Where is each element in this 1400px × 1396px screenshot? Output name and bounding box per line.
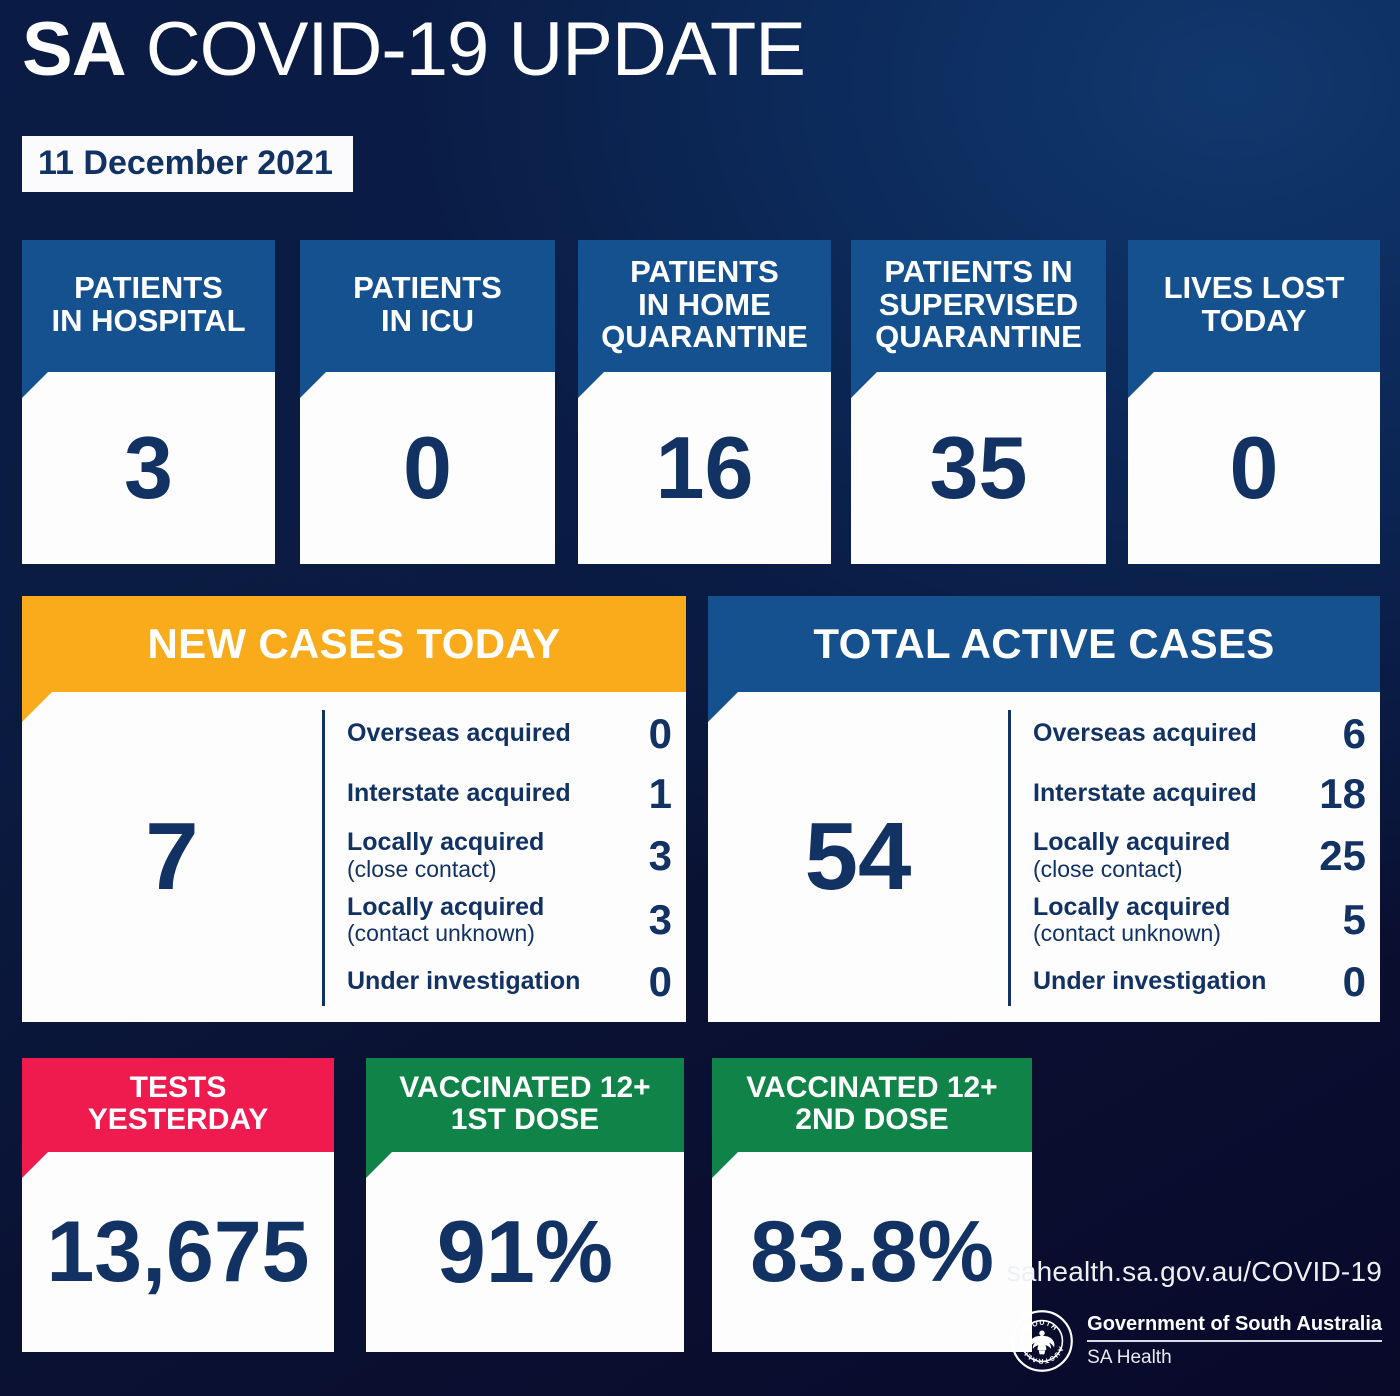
breakdown-label-main: Under investigation [347,968,580,996]
breakdown-row: Interstate acquired 18 [1033,770,1366,818]
breakdown-row: Overseas acquired 0 [347,710,672,758]
breakdown-label: Locally acquired (close contact) [347,829,544,882]
page-title-bold: SA [22,7,126,92]
breakdown-row: Interstate acquired 1 [347,770,672,818]
stat-label-line1: PATIENTS [74,270,223,305]
breakdown-label: Interstate acquired [347,780,571,808]
stat-label-line3: QUARANTINE [875,319,1082,354]
stat-card-header: LIVES LOST TODAY [1128,240,1380,372]
stat-card-header: PATIENTS IN HOME QUARANTINE [578,240,831,372]
stat-card-tests-yesterday: TESTS YESTERDAY 13,675 [22,1058,334,1352]
stat-label-line1: VACCINATED 12+ [399,1071,650,1104]
stat-label-line1: PATIENTS [630,254,779,289]
footer: sahealth.sa.gov.au/COVID-19 SOUTH AUSTRA… [1007,1256,1382,1372]
infographic-root: SA COVID-19 UPDATE 11 December 2021 PATI… [0,0,1400,1396]
breakdown-value: 0 [608,710,672,758]
stat-value: 35 [851,372,1106,564]
stat-card-lives-lost-today: LIVES LOST TODAY 0 [1128,240,1380,564]
breakdown-label: Overseas acquired [1033,720,1257,748]
breakdown-label-main: Overseas acquired [1033,720,1257,748]
breakdown-label: Locally acquired (contact unknown) [347,894,544,947]
panel-total: 7 [22,692,322,1022]
breakdown-row: Under investigation 0 [347,958,672,1006]
stat-label-line2: TODAY [1201,303,1306,338]
piping-shrike-emblem [1030,1330,1055,1354]
brand-text: Government of South Australia SA Health [1087,1313,1382,1369]
breakdown-label-main: Under investigation [1033,968,1266,996]
panel-header: NEW CASES TODAY [22,596,686,692]
breakdown-label-main: Locally acquired [1033,894,1230,922]
panel-body: 54 Overseas acquired 6 Interstate acquir… [708,692,1380,1022]
breakdown-value: 0 [608,958,672,1006]
stat-label-line2: 2ND DOSE [795,1103,948,1136]
panel-title: NEW CASES TODAY [148,620,561,668]
stat-value: 13,675 [22,1152,334,1352]
breakdown-label-sub: (close contact) [347,857,544,882]
agency-label: SA Health [1087,1347,1382,1369]
stat-value: 16 [578,372,831,564]
breakdown-label: Locally acquired (close contact) [1033,829,1230,882]
brand-divider [1087,1340,1382,1342]
breakdown-row: Overseas acquired 6 [1033,710,1366,758]
breakdown-value: 18 [1302,770,1366,818]
stat-card-header: TESTS YESTERDAY [22,1058,334,1152]
stat-label-line1: PATIENTS [353,270,502,305]
breakdown-label-main: Interstate acquired [347,780,571,808]
breakdown-label-sub: (close contact) [1033,857,1230,882]
breakdown-label-main: Interstate acquired [1033,780,1257,808]
stat-card-patients-in-home-quarantine: PATIENTS IN HOME QUARANTINE 16 [578,240,831,564]
stat-label-line2: IN HOME [638,287,771,322]
brand-lockup: SOUTH AUSTRALIA Government of South Aust… [1007,1310,1382,1372]
breakdown-value: 1 [608,770,672,818]
stat-value: 0 [300,372,555,564]
stat-card-patients-in-icu: PATIENTS IN ICU 0 [300,240,555,564]
panel-title: TOTAL ACTIVE CASES [813,620,1274,668]
stat-card-header: PATIENTS IN ICU [300,240,555,372]
breakdown-label-main: Locally acquired [1033,829,1230,857]
breakdown-value: 0 [1302,958,1366,1006]
breakdown-value: 25 [1302,832,1366,880]
stat-label-line2: 1ST DOSE [451,1103,599,1136]
breakdown-label: Locally acquired (contact unknown) [1033,894,1230,947]
breakdown-row: Under investigation 0 [1033,958,1366,1006]
date-text: 11 December 2021 [38,146,333,180]
panel-breakdown-list: Overseas acquired 6 Interstate acquired … [1008,710,1366,1006]
stat-label-line2: SUPERVISED [879,287,1078,322]
stat-label-line2: YESTERDAY [88,1103,269,1136]
stat-card-patients-in-supervised-quarantine: PATIENTS IN SUPERVISED QUARANTINE 35 [851,240,1106,564]
stat-label-line3: QUARANTINE [601,319,808,354]
page-title-rest: COVID-19 UPDATE [146,7,805,92]
stat-label-line1: VACCINATED 12+ [746,1071,997,1104]
breakdown-label: Overseas acquired [347,720,571,748]
south-australia-crest-icon: SOUTH AUSTRALIA [1011,1310,1073,1372]
panel-total: 54 [708,692,1008,1022]
breakdown-value: 6 [1302,710,1366,758]
stat-card-vaccinated-1st-dose: VACCINATED 12+ 1ST DOSE 91% [366,1058,684,1352]
stat-card-header: VACCINATED 12+ 1ST DOSE [366,1058,684,1152]
breakdown-label-main: Locally acquired [347,829,544,857]
breakdown-label-sub: (contact unknown) [1033,921,1230,946]
breakdown-label: Interstate acquired [1033,780,1257,808]
stat-label-line2: IN HOSPITAL [51,303,245,338]
breakdown-value: 3 [608,896,672,944]
stat-label-line1: PATIENTS IN [884,254,1072,289]
panel-body: 7 Overseas acquired 0 Interstate acquire… [22,692,686,1022]
stat-card-header: VACCINATED 12+ 2ND DOSE [712,1058,1032,1152]
stat-card-vaccinated-2nd-dose: VACCINATED 12+ 2ND DOSE 83.8% [712,1058,1032,1352]
stat-value: 91% [366,1152,684,1352]
breakdown-row: Locally acquired (contact unknown) 5 [1033,894,1366,947]
breakdown-value: 3 [608,832,672,880]
breakdown-label-sub: (contact unknown) [347,921,544,946]
breakdown-row: Locally acquired (close contact) 25 [1033,829,1366,882]
panel-breakdown-list: Overseas acquired 0 Interstate acquired … [322,710,672,1006]
breakdown-row: Locally acquired (close contact) 3 [347,829,672,882]
website-url[interactable]: sahealth.sa.gov.au/COVID-19 [1007,1256,1382,1288]
breakdown-label-main: Locally acquired [347,894,544,922]
breakdown-value: 5 [1302,896,1366,944]
breakdown-label: Under investigation [347,968,580,996]
stat-card-header: PATIENTS IN SUPERVISED QUARANTINE [851,240,1106,372]
date-badge: 11 December 2021 [22,136,353,192]
breakdown-row: Locally acquired (contact unknown) 3 [347,894,672,947]
stat-label-line1: LIVES LOST [1164,270,1345,305]
panel-header: TOTAL ACTIVE CASES [708,596,1380,692]
panel-total-active-cases: TOTAL ACTIVE CASES 54 Overseas acquired … [708,596,1380,1022]
stat-card-patients-in-hospital: PATIENTS IN HOSPITAL 3 [22,240,275,564]
stat-label-line2: IN ICU [381,303,474,338]
stat-label-line1: TESTS [130,1071,227,1104]
stat-card-header: PATIENTS IN HOSPITAL [22,240,275,372]
page-title: SA COVID-19 UPDATE [22,6,805,93]
stat-value: 0 [1128,372,1380,564]
panel-new-cases-today: NEW CASES TODAY 7 Overseas acquired 0 In… [22,596,686,1022]
government-label: Government of South Australia [1087,1313,1382,1340]
breakdown-label: Under investigation [1033,968,1266,996]
breakdown-label-main: Overseas acquired [347,720,571,748]
stat-value: 83.8% [712,1152,1032,1352]
stat-value: 3 [22,372,275,564]
